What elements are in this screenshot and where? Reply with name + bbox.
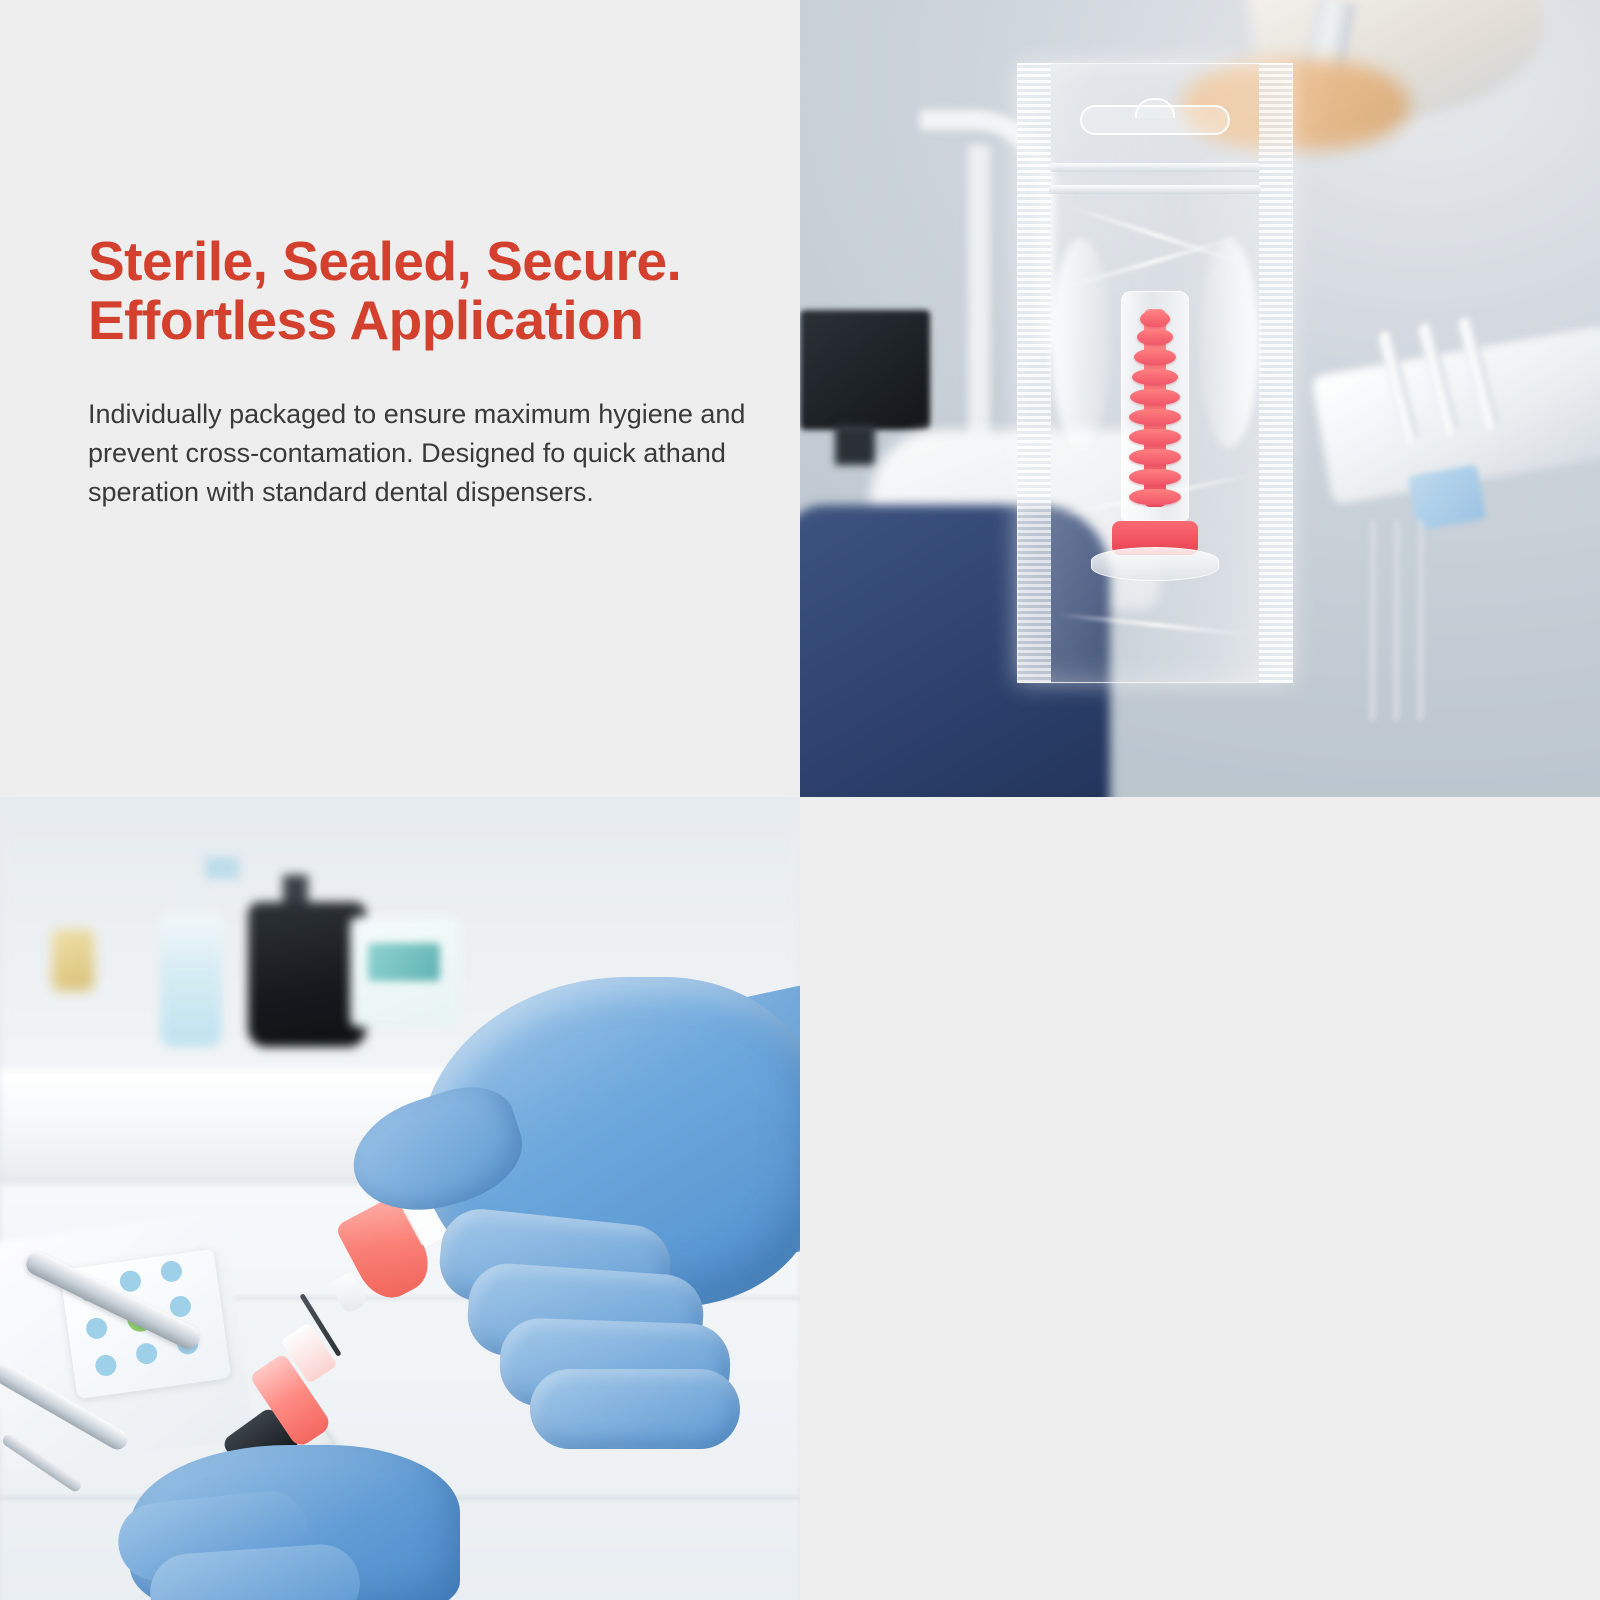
pouch-edge-right: [1259, 63, 1293, 683]
spiral-flute: [1129, 409, 1181, 425]
keypad-key: [169, 1295, 193, 1319]
shelf-item-yellow: [52, 929, 94, 991]
spiral-flute: [1129, 429, 1181, 445]
panel-bottom-left-photo: [0, 797, 800, 1600]
keypad-key: [160, 1260, 184, 1284]
pouch-pinch-left: [1051, 238, 1111, 448]
dental-mixing-tip: [1107, 291, 1203, 581]
spiral-flute: [1137, 329, 1173, 345]
top-left-headline-line-2: Effortless Application: [88, 291, 800, 350]
dark-container: [248, 902, 366, 1047]
hose-1: [1368, 520, 1375, 720]
monitor-stand: [835, 425, 875, 465]
equipment-arm-secondary: [968, 145, 990, 445]
spiral-flute: [1140, 311, 1170, 327]
top-left-body-copy: Individually packaged to ensure maximum …: [88, 395, 800, 512]
spiral-flute: [1134, 349, 1176, 365]
pouch-pinch-right: [1199, 238, 1259, 448]
hose-3: [1416, 520, 1423, 720]
top-left-text-block: Sterile, Sealed, Secure. Effortless Appl…: [88, 232, 800, 512]
hose-2: [1392, 520, 1399, 720]
glove-little-finger: [530, 1369, 740, 1449]
keypad-key: [94, 1354, 118, 1378]
pouch-zip-seal-lower: [1049, 185, 1261, 194]
panel-top-left-text: Sterile, Sealed, Secure. Effortless Appl…: [0, 0, 800, 797]
antiseptic-bottle: [160, 912, 222, 1047]
sealed-product-pouch: [1017, 63, 1293, 683]
keypad-key: [119, 1269, 143, 1293]
keypad-key: [85, 1316, 109, 1340]
spiral-flute: [1129, 449, 1181, 465]
spiral-flute: [1129, 489, 1181, 505]
feature-collage: Sterile, Sealed, Secure. Effortless Appl…: [0, 0, 1600, 1600]
panel-bottom-right-text: Sterile, Sealed, Secure. Effortless Appl…: [800, 797, 1600, 1600]
monitor-screen: [800, 310, 930, 430]
wall-label: [205, 857, 239, 879]
pouch-zip-seal-upper: [1049, 163, 1261, 172]
top-left-headline: Sterile, Sealed, Secure. Effortless Appl…: [88, 232, 800, 351]
mixing-tip-base-flange: [1091, 547, 1219, 581]
spiral-flute: [1129, 469, 1181, 485]
pouch-hang-hole-icon: [1080, 105, 1230, 135]
panel-top-right-photo: [800, 0, 1600, 797]
spiral-flute: [1130, 389, 1180, 405]
keypad-key: [135, 1342, 159, 1366]
top-left-headline-line-1: Sterile, Sealed, Secure.: [88, 232, 800, 291]
spiral-flute: [1132, 369, 1178, 385]
supply-box-label: [368, 943, 440, 981]
mixing-tip-spiral-core: [1129, 309, 1181, 507]
pouch-edge-left: [1017, 63, 1051, 683]
